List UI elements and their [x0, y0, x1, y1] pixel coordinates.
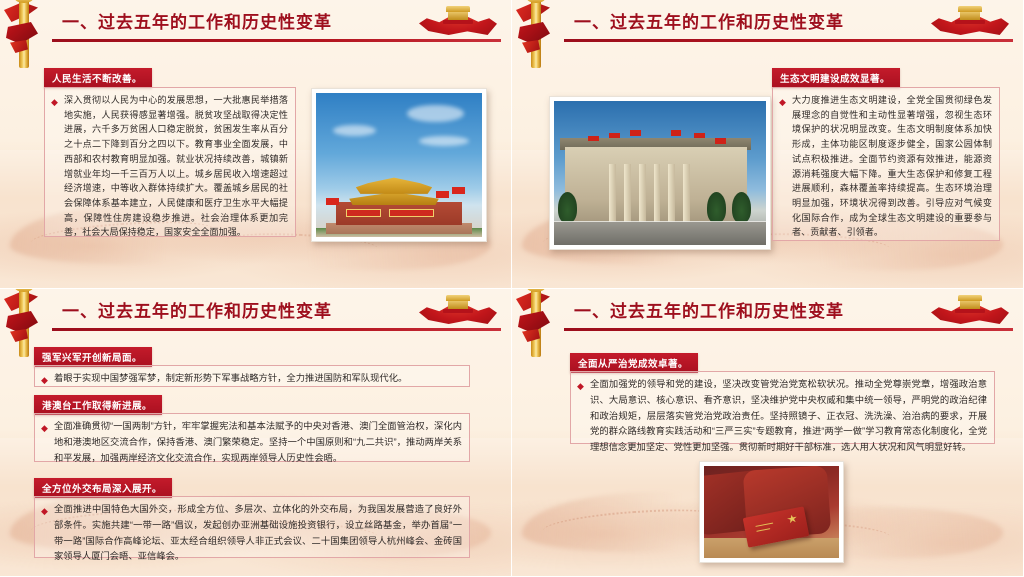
body-paragraph: ◆ 大力度推进生态文明建设，全党全国贯彻绿色发展理念的自觉性和主动性显著增强，忽… [779, 93, 992, 240]
page-title: 一、过去五年的工作和历史性变革 [62, 8, 332, 33]
body-textbox: ◆ 深入贯彻以人民为中心的发展思想，一大批惠民举措落地实施，人民获得感显著增强。… [44, 87, 296, 237]
body-paragraph: ◆ 着眼于实现中国梦强军梦，制定新形势下军事战略方针，全力推进国防和军队现代化。 [41, 371, 462, 387]
paragraph-text: 大力度推进生态文明建设，全党全国贯彻绿色发展理念的自觉性和主动性显著增强，忽视生… [792, 95, 992, 237]
tiananmen-emblem-icon [931, 3, 1009, 37]
paragraph-text: 全面加强党的领导和党的建设，坚决改变管党治党宽松软状况。推动全党尊崇党章，增强政… [590, 379, 987, 452]
tiananmen-gate-photo[interactable] [311, 88, 487, 242]
slide-grid: 一、过去五年的工作和历史性变革 人民生活不断改善。 ◆ 深入贯彻以人民为中心的发… [0, 0, 1024, 577]
header-rule [52, 39, 501, 42]
body-textbox: ◆ 着眼于实现中国梦强军梦，制定新形势下军事战略方针，全力推进国防和军队现代化。 [34, 365, 470, 387]
red-booklet-on-seat-photo[interactable] [699, 461, 844, 563]
section-badge-wrap: 人民生活不断改善。 [44, 68, 152, 88]
gold-ribbon-column-icon [516, 0, 556, 68]
bullet-icon: ◆ [41, 504, 48, 519]
slide-header: 一、过去五年的工作和历史性变革 [512, 0, 1023, 46]
page-title: 一、过去五年的工作和历史性变革 [574, 297, 844, 322]
body-textbox: ◆ 全面准确贯彻“一国两制”方针，牢牢掌握宪法和基本法赋予的中央对香港、澳门全面… [34, 413, 470, 462]
section-badge-wrap: 强军兴军开创新局面。 [34, 347, 152, 367]
bullet-icon: ◆ [41, 373, 48, 388]
slide-bottom-left[interactable]: 一、过去五年的工作和历史性变革 强军兴军开创新局面。 ◆ 着眼于实现中国梦强军梦… [0, 289, 512, 577]
status-badge: 人民生活不断改善。 [44, 68, 152, 88]
status-badge: 全方位外交布局深入展开。 [34, 478, 172, 498]
section-badge-wrap: 全方位外交布局深入展开。 [34, 478, 172, 498]
page-title: 一、过去五年的工作和历史性变革 [574, 8, 844, 33]
bullet-icon: ◆ [41, 421, 48, 436]
page-title: 一、过去五年的工作和历史性变革 [62, 297, 332, 322]
body-paragraph: ◆ 深入贯彻以人民为中心的发展思想，一大批惠民举措落地实施，人民获得感显著增强。… [51, 93, 288, 240]
body-paragraph: ◆ 全面准确贯彻“一国两制”方针，牢牢掌握宪法和基本法赋予的中央对香港、澳门全面… [41, 419, 462, 466]
header-rule [564, 39, 1013, 42]
bullet-icon: ◆ [779, 95, 786, 110]
gold-ribbon-column-icon [4, 0, 44, 68]
status-badge: 全面从严治党成效卓著。 [570, 353, 698, 373]
tiananmen-emblem-icon [419, 3, 497, 37]
body-paragraph: ◆ 全面推进中国特色大国外交，形成全方位、多层次、立体化的外交布局，为我国发展营… [41, 502, 462, 565]
status-badge: 强军兴军开创新局面。 [34, 347, 152, 367]
slide-top-left[interactable]: 一、过去五年的工作和历史性变革 人民生活不断改善。 ◆ 深入贯彻以人民为中心的发… [0, 0, 512, 289]
section-badge-wrap: 全面从严治党成效卓著。 [570, 353, 698, 373]
body-textbox: ◆ 大力度推进生态文明建设，全党全国贯彻绿色发展理念的自觉性和主动性显著增强，忽… [772, 87, 1000, 241]
slide-header: 一、过去五年的工作和历史性变革 [0, 0, 511, 46]
paragraph-text: 深入贯彻以人民为中心的发展思想，一大批惠民举措落地实施，人民获得感显著增强。脱贫… [64, 95, 288, 237]
section-badge-wrap: 生态文明建设成效显著。 [772, 68, 900, 88]
status-badge: 生态文明建设成效显著。 [772, 68, 900, 88]
paragraph-text: 着眼于实现中国梦强军梦，制定新形势下军事战略方针，全力推进国防和军队现代化。 [54, 373, 407, 383]
header-rule [564, 328, 1013, 331]
paragraph-text: 全面准确贯彻“一国两制”方针，牢牢掌握宪法和基本法赋予的中央对香港、澳门全面管治… [54, 421, 462, 463]
tiananmen-emblem-icon [931, 292, 1009, 326]
slide-header: 一、过去五年的工作和历史性变革 [512, 289, 1023, 335]
body-textbox: ◆ 全面加强党的领导和党的建设，坚决改变管党治党宽松软状况。推动全党尊崇党章，增… [570, 371, 995, 444]
header-rule [52, 328, 501, 331]
bullet-icon: ◆ [577, 379, 584, 394]
gold-ribbon-column-icon [516, 289, 556, 357]
tiananmen-emblem-icon [419, 292, 497, 326]
status-badge: 港澳台工作取得新进展。 [34, 395, 162, 415]
body-textbox: ◆ 全面推进中国特色大国外交，形成全方位、多层次、立体化的外交布局，为我国发展营… [34, 496, 470, 558]
slide-bottom-right[interactable]: 一、过去五年的工作和历史性变革 全面从严治党成效卓著。 ◆ 全面加强党的领导和党… [512, 289, 1024, 577]
body-paragraph: ◆ 全面加强党的领导和党的建设，坚决改变管党治党宽松软状况。推动全党尊崇党章，增… [577, 377, 987, 456]
bullet-icon: ◆ [51, 95, 58, 110]
slide-top-right[interactable]: 一、过去五年的工作和历史性变革 [512, 0, 1024, 289]
section-badge-wrap: 港澳台工作取得新进展。 [34, 395, 162, 415]
paragraph-text: 全面推进中国特色大国外交，形成全方位、多层次、立体化的外交布局，为我国发展营造了… [54, 504, 462, 561]
great-hall-of-the-people-photo[interactable] [549, 96, 771, 250]
slide-header: 一、过去五年的工作和历史性变革 [0, 289, 511, 335]
